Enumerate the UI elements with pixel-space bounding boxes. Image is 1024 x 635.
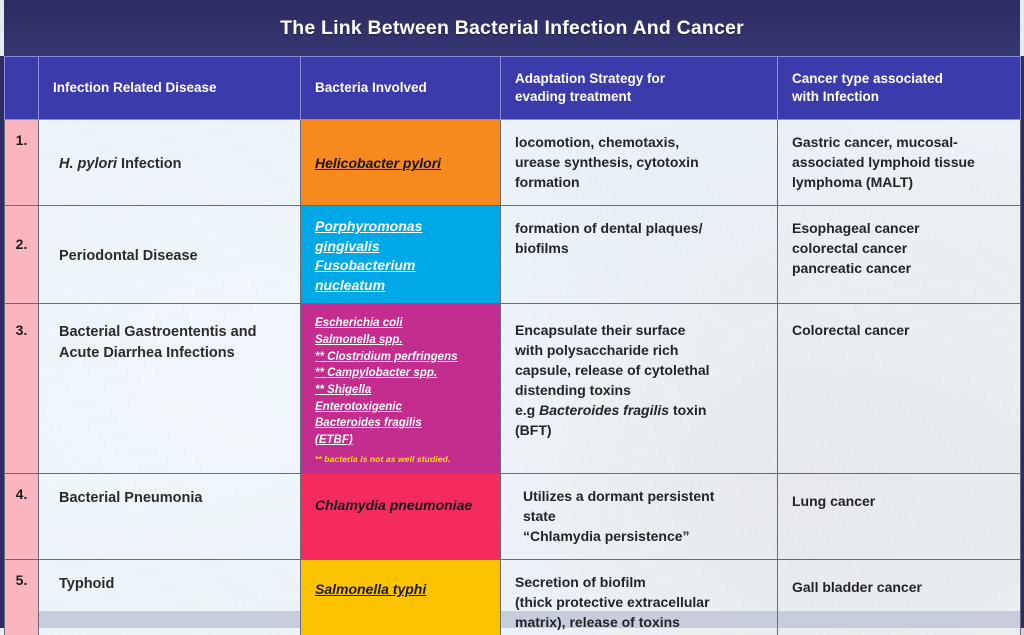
bacteria-name: (ETBF) [315,434,353,446]
bacteria-name: Salmonella spp. [315,334,403,346]
page-title: The Link Between Bacterial Infection And… [280,17,744,40]
bacteria-name: Enterotoxigenic [315,401,402,413]
header-adaptation-strategy: Adaptation Strategy for evading treatmen… [501,57,778,120]
table-row: 2. Periodontal Disease Porphyromonas gin… [5,206,1021,304]
adaptation-line: formation of dental plaques/ [515,220,702,236]
adaptation-line: urease synthesis, cytotoxin [515,154,699,170]
cell-cancer-type: Colorectal cancer [778,304,1021,474]
cell-bacteria: Salmonella typhi [301,559,501,635]
adaptation-eg-suffix: toxin [669,402,706,418]
bacteria-footnote: ** bacteria is not as well studied. [315,453,490,465]
adaptation-line: “Chlamydia persistence” [523,528,690,544]
table-header-row: Infection Related Disease Bacteria Invol… [5,57,1021,120]
adaptation-line: biofilms [515,240,569,256]
row-number: 2. [5,206,39,304]
cell-cancer-type: Lung cancer [778,474,1021,560]
infographic-root: The Link Between Bacterial Infection And… [0,0,1024,635]
cell-disease: Periodontal Disease [39,206,301,304]
cell-bacteria: Escherichia coli Salmonella spp. ** Clos… [301,304,501,474]
cancer-line: associated lymphoid tissue [792,154,975,170]
bacteria-name: Escherichia coli [315,317,403,329]
disease-line: Acute Diarrhea Infections [59,345,235,361]
row-number: 3. [5,304,39,474]
adaptation-line: Encapsulate their surface [515,322,685,338]
bacteria-name: ** Shigella [315,384,371,396]
bacteria-name: nucleatum [315,277,385,293]
cancer-line: Esophageal cancer [792,220,920,236]
disease-rest-part: Infection [117,156,181,172]
table-row: 5. Typhoid Salmonella typhi Secretion of… [5,559,1021,635]
infection-cancer-table: Infection Related Disease Bacteria Invol… [4,56,1021,635]
cancer-line: lymphoma (MALT) [792,174,913,190]
header-cancer-type: Cancer type associated with Infection [778,57,1021,120]
adaptation-line: Utilizes a dormant persistent [523,488,714,504]
bacteria-name: Bacteroides fragilis [315,417,422,429]
cell-bacteria: Chlamydia pneumoniae [301,474,501,560]
disease-line: Bacterial Gastroententis and [59,324,256,340]
table-row: 3. Bacterial Gastroententis and Acute Di… [5,304,1021,474]
cell-cancer-type: Gall bladder cancer [778,559,1021,635]
table-row: 1. H. pylori Infection Helicobacter pylo… [5,120,1021,206]
cell-cancer-type: Gastric cancer, mucosal- associated lymp… [778,120,1021,206]
title-bar: The Link Between Bacterial Infection And… [4,0,1020,56]
bacteria-name: gingivalis [315,238,380,254]
header-infection-related-disease: Infection Related Disease [39,57,301,120]
bacteria-name: Salmonella typhi [315,581,426,597]
header-cancer-line-1: Cancer type associated [792,71,943,86]
adaptation-line: distending toxins [515,382,631,398]
header-adaptation-line-2: evading treatment [515,89,631,104]
adaptation-line: with polysaccharide rich [515,342,678,358]
bacteria-name: Porphyromonas [315,218,422,234]
cell-bacteria: Porphyromonas gingivalis Fusobacterium n… [301,206,501,304]
header-adaptation-line-1: Adaptation Strategy for [515,71,665,86]
adaptation-line: capsule, release of cytolethal [515,362,710,378]
table-row: 4. Bacterial Pneumonia Chlamydia pneumon… [5,474,1021,560]
adaptation-line: state [523,508,556,524]
disease-italic-part: H. pylori [59,156,117,172]
header-number [5,57,39,120]
cell-disease: H. pylori Infection [39,120,301,206]
adaptation-eg-last: (BFT) [515,422,552,438]
cancer-line: colorectal cancer [792,240,907,256]
adaptation-line: locomotion, chemotaxis, [515,134,679,150]
adaptation-line: (thick protective extracellular [515,594,710,610]
cell-adaptation: formation of dental plaques/ biofilms [501,206,778,304]
bacteria-name: Helicobacter pylori [315,155,441,171]
cell-adaptation: Utilizes a dormant persistent state “Chl… [501,474,778,560]
cell-adaptation: Encapsulate their surface with polysacch… [501,304,778,474]
cell-disease: Typhoid [39,559,301,635]
adaptation-line: matrix), release of toxins [515,614,680,630]
cancer-line: pancreatic cancer [792,260,911,276]
header-cancer-line-2: with Infection [792,89,879,104]
cancer-line: Gastric cancer, mucosal- [792,134,958,150]
adaptation-eg-italic: Bacteroides fragilis [539,402,669,418]
adaptation-line: Secretion of biofilm [515,574,646,590]
bacteria-name: ** Clostridium perfringens [315,351,458,363]
cell-disease: Bacterial Pneumonia [39,474,301,560]
cell-adaptation: Secretion of biofilm (thick protective e… [501,559,778,635]
cell-bacteria: Helicobacter pylori [301,120,501,206]
adaptation-eg-prefix: e.g [515,402,539,418]
cell-cancer-type: Esophageal cancer colorectal cancer panc… [778,206,1021,304]
cell-disease: Bacterial Gastroententis and Acute Diarr… [39,304,301,474]
adaptation-line: formation [515,174,580,190]
bacteria-name: Fusobacterium [315,257,415,273]
row-number: 4. [5,474,39,560]
cell-adaptation: locomotion, chemotaxis, urease synthesis… [501,120,778,206]
row-number: 5. [5,559,39,635]
bacteria-name: ** Campylobacter spp. [315,367,437,379]
row-number: 1. [5,120,39,206]
header-bacteria-involved: Bacteria Involved [301,57,501,120]
bacteria-name: Chlamydia pneumoniae [315,497,472,513]
